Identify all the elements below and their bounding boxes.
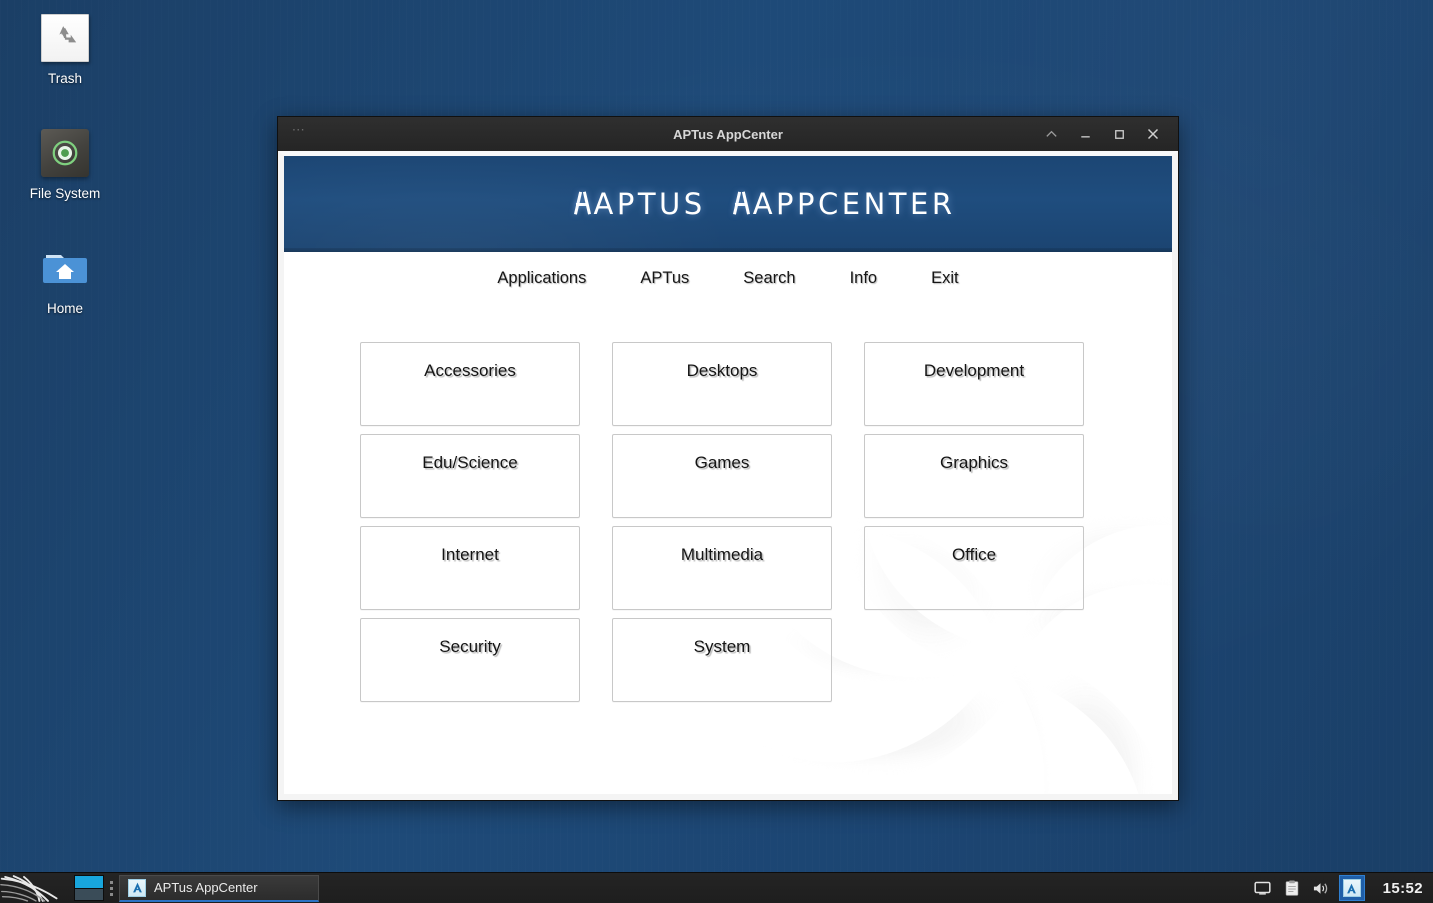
swirl-start-icon[interactable] [0,873,72,903]
logo-a-glyph [732,191,751,214]
app-nav: Applications APTus Search Info Exit [284,252,1172,304]
aptus-tray-icon[interactable] [1340,876,1364,900]
aptus-app-icon [1343,879,1361,897]
logo-a-glyph [573,191,592,214]
category-label: Edu/Science [422,453,517,473]
category-system[interactable]: System [612,618,832,702]
desktop[interactable]: Trash File System Home [0,0,1433,903]
window-body: APTUS APPCENTER Applications APTus Searc… [278,151,1178,800]
taskbar-clock[interactable]: 15:52 [1383,880,1423,897]
window-controls [1034,119,1178,149]
workspace-switcher[interactable] [74,875,104,901]
desktop-icon-label: Trash [2,71,128,87]
category-label: Graphics [940,453,1008,473]
task-button-aptus-appcenter[interactable]: APTus AppCenter [119,875,319,902]
window-titlebar[interactable]: ⋯ APTus AppCenter [278,117,1178,151]
logo-word-aptus-text: APTUS [594,190,706,219]
close-button[interactable] [1136,119,1170,149]
category-grid: Accessories Desktops Development Edu/Sci… [284,304,1172,702]
category-label: Office [952,545,996,565]
shade-button[interactable] [1034,119,1068,149]
category-label: Development [924,361,1024,381]
maximize-button[interactable] [1102,119,1136,149]
logo-word-appcenter: APPCENTER [732,190,956,219]
category-label: Accessories [424,361,516,381]
file-system-icon [41,129,89,177]
taskbar-drag-handle[interactable] [107,875,116,901]
desktop-icon-list: Trash File System Home [0,8,130,353]
category-development[interactable]: Development [864,342,1084,426]
aptus-app-icon [128,879,146,897]
task-button-label: APTus AppCenter [154,880,258,895]
category-label: System [694,637,751,657]
clipboard-icon[interactable] [1282,878,1302,898]
desktop-icon-home[interactable]: Home [0,238,130,327]
category-label: Games [695,453,750,473]
category-label: Security [439,637,500,657]
category-games[interactable]: Games [612,434,832,518]
taskbar: APTus AppCenter [0,872,1433,903]
category-label: Desktops [687,361,758,381]
category-internet[interactable]: Internet [360,526,580,610]
desktop-icon-file-system[interactable]: File System [0,123,130,212]
category-office[interactable]: Office [864,526,1084,610]
minimize-button[interactable] [1068,119,1102,149]
category-desktops[interactable]: Desktops [612,342,832,426]
category-graphics[interactable]: Graphics [864,434,1084,518]
app-content: Accessories Desktops Development Edu/Sci… [284,304,1172,794]
display-icon[interactable] [1253,878,1273,898]
logo-word-aptus: APTUS [573,190,706,219]
logo-word-appcenter-text: APPCENTER [753,190,956,219]
category-label: Internet [441,545,499,565]
workspace-1[interactable] [75,876,103,888]
volume-icon[interactable] [1311,878,1331,898]
trash-icon [41,14,89,62]
aptus-appcenter-window[interactable]: ⋯ APTus AppCenter [277,116,1179,801]
desktop-icon-trash[interactable]: Trash [0,8,130,97]
nav-item-search[interactable]: Search [739,266,799,291]
category-multimedia[interactable]: Multimedia [612,526,832,610]
system-tray: 15:52 [1253,876,1433,900]
nav-item-aptus[interactable]: APTus [636,266,693,291]
desktop-icon-label: Home [2,301,128,317]
desktop-icon-label: File System [2,186,128,202]
workspace-2[interactable] [75,888,103,901]
window-menu-button[interactable]: ⋯ [278,125,320,143]
app-header-banner: APTUS APPCENTER [284,156,1172,252]
category-security[interactable]: Security [360,618,580,702]
nav-item-applications[interactable]: Applications [493,266,590,291]
nav-item-info[interactable]: Info [846,266,882,291]
category-edu-science[interactable]: Edu/Science [360,434,580,518]
category-label: Multimedia [681,545,763,565]
category-accessories[interactable]: Accessories [360,342,580,426]
home-folder-icon [41,244,89,292]
nav-item-exit[interactable]: Exit [927,266,963,291]
aptus-logo: APTUS APPCENTER [573,190,956,219]
